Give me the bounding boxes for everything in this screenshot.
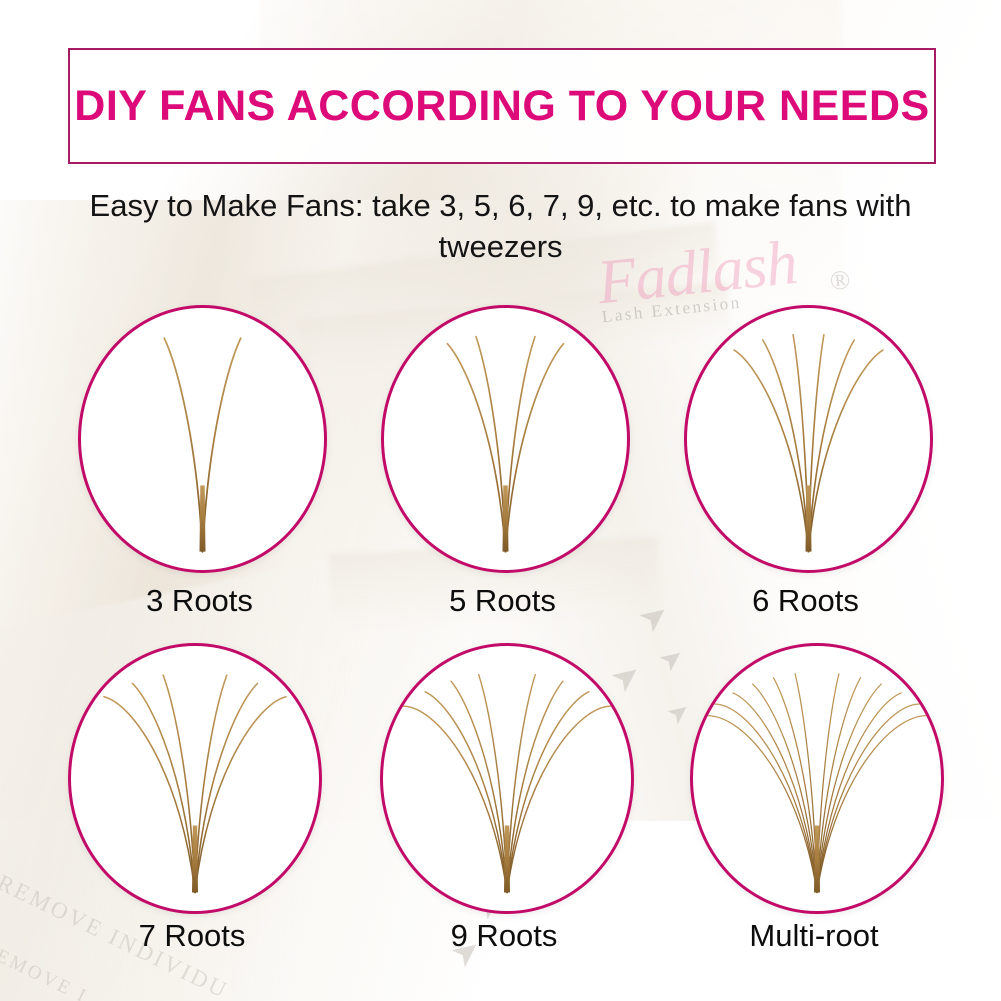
- lash-strand: [763, 340, 809, 552]
- arrow-icon: ➤: [654, 641, 690, 678]
- lash-base-stem: [192, 826, 198, 893]
- fan-label: 3 Roots: [78, 583, 321, 619]
- lash-base-stem: [200, 485, 206, 551]
- lash-strand: [401, 706, 507, 892]
- fan-circle-9-roots[interactable]: [380, 643, 634, 914]
- title-banner: DIY FANS ACCORDING TO YOUR NEEDS: [68, 48, 936, 164]
- fan-label: Multi-root: [690, 918, 938, 954]
- page-title: DIY FANS ACCORDING TO YOUR NEEDS: [74, 82, 929, 131]
- lash-strand: [425, 692, 507, 893]
- fan-label: 6 Roots: [684, 583, 927, 619]
- lash-strand: [451, 681, 507, 892]
- arrow-icon: ➤: [605, 655, 648, 699]
- lash-strand: [817, 704, 920, 893]
- lash-strand: [104, 697, 195, 893]
- fan-label: 5 Roots: [381, 583, 624, 619]
- infographic-page: REMOVE INDIVIDU EMOVE I ➤ ➤ ➤ ➤ ➤ ➤ Fadl…: [0, 0, 1001, 1001]
- lash-strand: [203, 338, 241, 552]
- lash-base-stem: [503, 485, 509, 551]
- fan-label: 7 Roots: [68, 918, 316, 954]
- lash-base-stem: [814, 826, 820, 893]
- lash-strand: [164, 338, 202, 552]
- lash-strand: [195, 683, 258, 892]
- fan-circle-5-roots[interactable]: [381, 305, 630, 573]
- lash-base-stem: [806, 485, 812, 551]
- fan-label: 9 Roots: [380, 918, 628, 954]
- fan-circle-3-roots[interactable]: [78, 305, 327, 573]
- lash-strand: [507, 681, 563, 892]
- lash-strand: [506, 337, 536, 552]
- lash-base-stem: [504, 826, 510, 893]
- lash-strand: [507, 706, 613, 892]
- fan-circle-7-roots[interactable]: [68, 643, 322, 914]
- lash-strand: [507, 692, 589, 893]
- fan-circle-6-roots[interactable]: [684, 305, 933, 573]
- lash-strand: [809, 340, 855, 552]
- fan-circle-multi-root[interactable]: [690, 643, 944, 914]
- lash-strand: [133, 683, 196, 892]
- registered-trademark-icon: ®: [828, 264, 852, 297]
- arrow-icon: ➤: [633, 595, 676, 639]
- page-subtitle: Easy to Make Fans: take 3, 5, 6, 7, 9, e…: [80, 186, 921, 268]
- lash-strand: [476, 337, 506, 552]
- arrow-icon: ➤: [662, 696, 695, 730]
- lash-strand: [715, 704, 818, 893]
- lash-strand: [195, 697, 286, 893]
